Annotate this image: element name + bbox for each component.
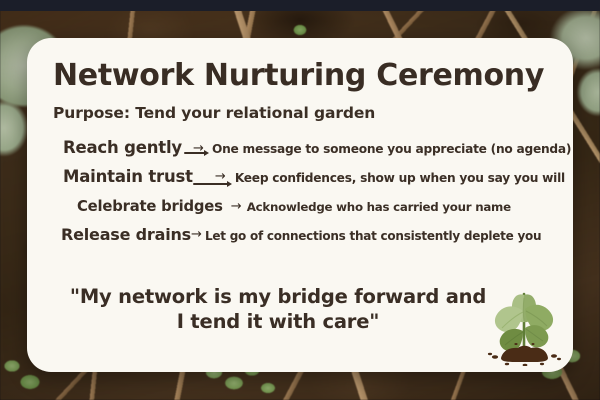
step-description-celebrate-bridges: Acknowledge who has carried your name [247,200,511,214]
arrow-container-4: → [191,225,205,241]
right-arrow-icon: → [191,227,202,242]
step-row-reach-gently: Reach gently → One message to someone yo… [53,138,547,157]
card-content: Network Nurturing Ceremony Purpose: Tend… [27,38,573,372]
step-label-maintain-trust: Maintain trust [63,167,193,186]
step-label-release-drains: Release drains [61,225,191,244]
arrow-head [204,150,209,156]
arrow-container-1: → [182,138,212,154]
right-arrow-icon: → [231,199,242,214]
purpose-line: Purpose: Tend your relational garden [53,104,547,122]
seedling-icon [485,278,563,366]
quote-line-2: I tend it with care" [53,309,503,334]
closing-affirmation-quote: "My network is my bridge forward and I t… [53,284,503,335]
ceremony-card: Network Nurturing Ceremony Purpose: Tend… [27,38,573,372]
step-description-reach-gently: One message to someone you appreciate (n… [212,142,571,156]
arrow-container-3: → [223,196,247,212]
poster-canvas: Network Nurturing Ceremony Purpose: Tend… [0,0,600,400]
step-row-release-drains: Release drains → Let go of connections t… [53,225,547,244]
arrow-shaft [193,183,229,185]
step-label-reach-gently: Reach gently [63,138,182,157]
page-title: Network Nurturing Ceremony [53,60,547,92]
hand-drawn-arrow-icon-2 [193,181,233,188]
hand-drawn-arrow-icon-1 [184,150,210,157]
step-description-maintain-trust: Keep confidences, show up when you say y… [235,171,565,185]
step-row-maintain-trust: Maintain trust → Keep confidences, show … [53,167,547,186]
top-letterbox-bar [0,0,600,11]
step-row-celebrate-bridges: Celebrate bridges → Acknowledge who has … [53,196,547,215]
step-description-release-drains: Let go of connections that consistently … [205,229,541,243]
arrow-shaft [184,152,206,154]
quote-line-1: "My network is my bridge forward and [53,284,503,309]
arrow-head [227,181,232,187]
arrow-container-2: → [193,167,235,183]
steps-list: Reach gently → One message to someone yo… [53,138,547,244]
step-label-celebrate-bridges: Celebrate bridges [77,198,223,215]
